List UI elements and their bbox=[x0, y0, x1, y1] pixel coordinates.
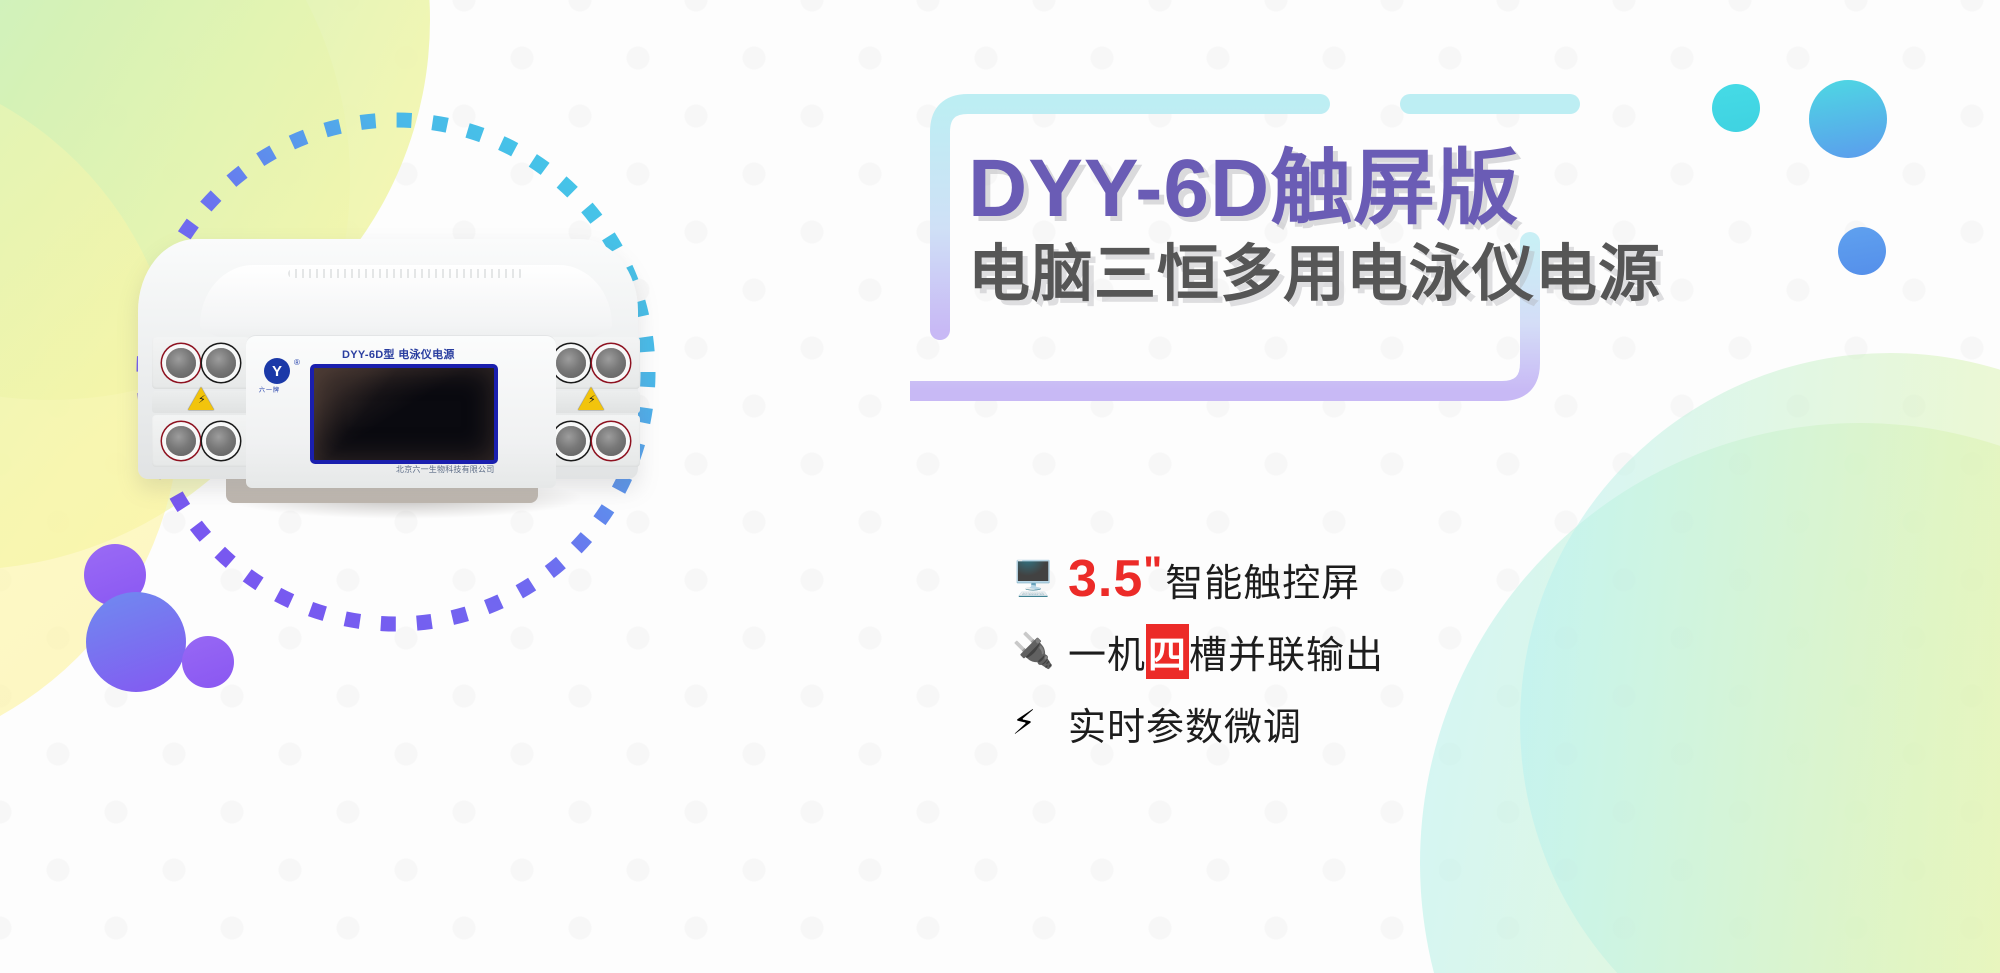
device-lcd-screen bbox=[310, 364, 498, 464]
feature-text-slots: 一机四槽并联输出 bbox=[1068, 624, 1384, 679]
jack-panel-right: ⚡ bbox=[542, 337, 640, 477]
jack-black-bottom-right bbox=[556, 426, 586, 456]
feature-highlight-slot-count: 四 bbox=[1146, 624, 1189, 679]
deco-circle-blue-medium bbox=[1838, 227, 1886, 275]
product-banner: ⚡ ⚡ DYY-6D型 电泳仪电源 Y ® 六一牌 bbox=[0, 0, 2000, 973]
jack-red-top-right bbox=[596, 348, 626, 378]
feature-value-screen-size: 3.5 bbox=[1068, 553, 1143, 605]
manufacturer-label: 北京六一生物科技有限公司 bbox=[396, 464, 494, 475]
jack-red-top-left bbox=[166, 348, 196, 378]
feature-label-slots-before: 一机 bbox=[1068, 624, 1146, 679]
jack-red-bottom-left bbox=[166, 426, 196, 456]
deco-circle-purple-tiny bbox=[182, 636, 234, 688]
lightning-icon: ⚡ bbox=[1012, 706, 1068, 740]
feature-unit-inches: " bbox=[1143, 549, 1163, 594]
device-front-panel: DYY-6D型 电泳仪电源 Y ® 六一牌 北京六一生物科技有限公司 bbox=[246, 335, 556, 488]
blob-bottom-right-small bbox=[1520, 353, 2000, 973]
deco-circle-blue-large bbox=[86, 592, 186, 692]
device-model-label: DYY-6D型 电泳仪电源 bbox=[342, 346, 455, 362]
list-item: 🖥️ 3.5"智能触控屏 bbox=[1012, 543, 1384, 615]
title-block: DYY-6D触屏版 电脑三恒多用电泳仪电源 bbox=[968, 148, 1661, 306]
blob-bottom-right-large bbox=[1420, 423, 2000, 973]
plug-icon: 🔌 bbox=[1012, 634, 1068, 668]
jack-black-bottom-left bbox=[206, 426, 236, 456]
device-vents bbox=[288, 269, 524, 278]
high-voltage-bolt-glyph-right: ⚡ bbox=[588, 395, 596, 406]
jack-black-top-left bbox=[206, 348, 236, 378]
device-body: ⚡ ⚡ DYY-6D型 电泳仪电源 Y ® 六一牌 bbox=[138, 239, 638, 479]
feature-text-screen: 3.5"智能触控屏 bbox=[1068, 552, 1360, 607]
jack-row-bottom-left bbox=[152, 415, 250, 467]
page-subtitle: 电脑三恒多用电泳仪电源 bbox=[968, 244, 1661, 306]
list-item: 🔌 一机四槽并联输出 bbox=[1012, 615, 1384, 687]
high-voltage-bolt-glyph: ⚡ bbox=[198, 395, 206, 406]
registered-trademark-icon: ® bbox=[294, 358, 300, 367]
feature-label-realtime: 实时参数微调 bbox=[1068, 696, 1302, 751]
jack-row-top-left bbox=[152, 337, 250, 389]
feature-label-slots-after: 槽并联输出 bbox=[1189, 624, 1384, 679]
jack-row-top-right bbox=[542, 337, 640, 389]
jack-black-top-right bbox=[556, 348, 586, 378]
feature-label-screen: 智能触控屏 bbox=[1165, 552, 1360, 607]
monitor-icon: 🖥️ bbox=[1012, 562, 1068, 596]
deco-circle-cyan-small bbox=[1712, 84, 1760, 132]
jack-red-bottom-right bbox=[596, 426, 626, 456]
lcd-glare bbox=[314, 368, 494, 460]
brand-logo-icon: Y bbox=[264, 358, 290, 384]
jack-panel-left: ⚡ bbox=[152, 337, 250, 477]
product-image: ⚡ ⚡ DYY-6D型 电泳仪电源 Y ® 六一牌 bbox=[120, 215, 680, 615]
page-title: DYY-6D触屏版 bbox=[968, 148, 1661, 230]
feature-text-realtime: 实时参数微调 bbox=[1068, 696, 1302, 751]
jack-row-bottom-right bbox=[542, 415, 640, 467]
feature-list: 🖥️ 3.5"智能触控屏 🔌 一机四槽并联输出 ⚡ 实时参数微调 bbox=[1012, 543, 1384, 759]
list-item: ⚡ 实时参数微调 bbox=[1012, 687, 1384, 759]
brand-logo-sublabel: 六一牌 bbox=[259, 385, 280, 394]
deco-circle-cyan-large bbox=[1809, 80, 1887, 158]
